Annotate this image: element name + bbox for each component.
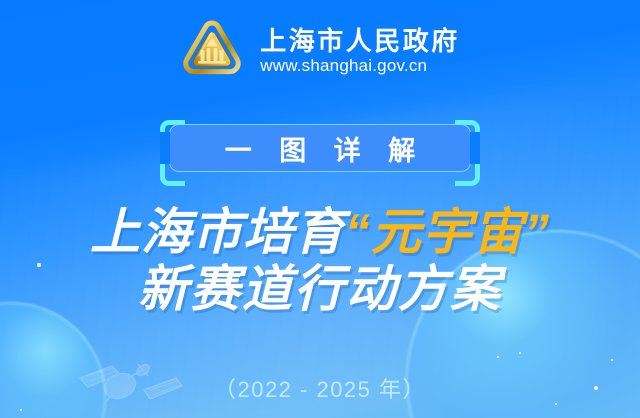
poster-root: 上海市人民政府 www.shanghai.gov.cn 一 图 详 解 上海市培… [0, 0, 640, 418]
header-text-group: 上海市人民政府 www.shanghai.gov.cn [260, 27, 460, 76]
title-line-2: 新赛道行动方案 [0, 261, 640, 318]
shanghai-government-emblem-icon [180, 19, 244, 83]
government-name: 上海市人民政府 [260, 27, 460, 55]
quote-open: “ [345, 204, 371, 260]
banner-label: 一 图 详 解 [215, 129, 426, 168]
main-title: 上海市培育“元宇宙” 新赛道行动方案 [0, 204, 640, 318]
star-dot [20, 409, 23, 412]
government-website-url: www.shanghai.gov.cn [260, 57, 460, 76]
star-dot [611, 359, 613, 361]
year-range: （2022 - 2025 年） [0, 372, 640, 404]
infographic-banner: 一 图 详 解 [160, 120, 480, 176]
header: 上海市人民政府 www.shanghai.gov.cn [0, 19, 640, 83]
title-line-1: 上海市培育“元宇宙” [0, 204, 640, 261]
star-dot [519, 352, 521, 354]
bracket-right-mask [470, 132, 480, 164]
star-dot [497, 356, 499, 358]
title-accent-metaverse: 元宇宙 [371, 204, 524, 260]
quote-close: ” [524, 204, 550, 260]
title-prefix: 上海市培育 [90, 204, 345, 260]
banner-box: 一 图 详 解 [169, 124, 471, 172]
bracket-left-mask [160, 132, 170, 164]
